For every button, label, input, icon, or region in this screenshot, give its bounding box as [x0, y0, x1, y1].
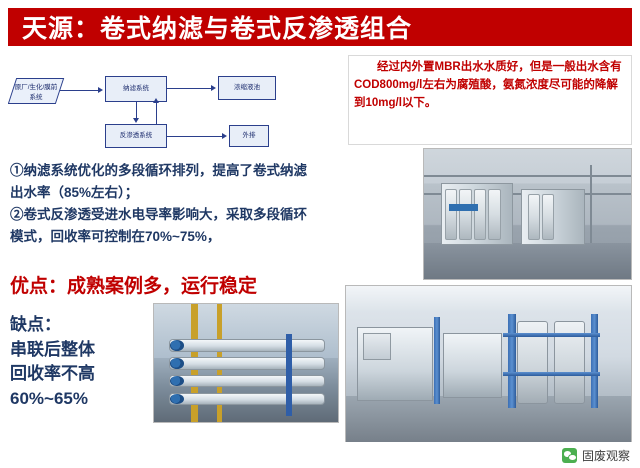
slide: 天源：卷式纳滤与卷式反渗透组合 原厂/生化/膜前系统 纳滤系统 反渗透系统 浓缩…	[0, 0, 640, 468]
photo-membrane-skid-top-right	[423, 148, 632, 280]
photo2-blue-pipe	[286, 334, 292, 417]
photo2-vessel-4-cap	[170, 394, 184, 405]
photo1-label-plate	[449, 204, 478, 212]
diagram-node-discharge: 外排	[229, 125, 269, 147]
diagram-node-discharge-label: 外排	[243, 132, 256, 140]
wechat-badge: 固废观察	[562, 447, 630, 464]
diagram-arrow-1	[98, 87, 103, 93]
photo-pressure-vessels-content	[154, 304, 338, 422]
advantage-text: 优点：成熟案例多，运行稳定	[10, 271, 257, 298]
diagram-arrow-recycle	[153, 98, 159, 103]
photo-membrane-skid-content	[424, 149, 631, 279]
body-text-block: ①纳滤系统优化的多段循环排列，提高了卷式纳滤 出水率（85%左右）； ②卷式反渗…	[10, 160, 340, 247]
diagram-arrow-3	[211, 85, 216, 91]
diagram-arrow-4	[222, 133, 227, 139]
photo3-pipe-h1	[503, 333, 600, 337]
slide-title-bar: 天源：卷式纳滤与卷式反渗透组合	[8, 8, 632, 46]
disadvantage-line-2: 串联后整体	[10, 338, 95, 363]
photo2-vessel-1-cap	[170, 340, 184, 351]
photo3-pipe-v2	[591, 314, 598, 408]
photo3-ceiling	[346, 286, 631, 311]
photo1-vessel-6	[542, 194, 554, 240]
photo2-vessel-4	[169, 393, 326, 406]
photo1-floor	[424, 243, 631, 279]
footer: 固废观察	[0, 442, 640, 468]
page-title: 天源：卷式纳滤与卷式反渗透组合	[22, 9, 412, 45]
photo3-rack-mid	[443, 333, 502, 398]
photo2-vessel-1	[169, 339, 326, 352]
photo2-vessel-2	[169, 357, 326, 370]
body-line-4: 模式，回收率可控制在70%~75%，	[10, 226, 340, 248]
photo1-column	[590, 165, 592, 243]
note-text: 经过内外置MBR出水水质好，但是一般出水含有COD800mg/l左右为腐殖酸，氨…	[354, 59, 626, 112]
disadvantage-line-4: 60%~65%	[10, 387, 95, 412]
photo3-pipe-v1	[508, 314, 515, 408]
photo1-vessel-2	[459, 189, 471, 240]
diagram-node-concentrate: 浓缩液池	[218, 76, 276, 100]
photo3-pipe-h2	[503, 372, 600, 376]
wechat-account-name: 固废观察	[582, 447, 630, 464]
body-line-1: ①纳滤系统优化的多段循环排列，提高了卷式纳滤	[10, 160, 340, 182]
disadvantage-line-1: 缺点：	[10, 313, 95, 338]
diagram-arrow-2	[133, 118, 139, 123]
photo3-pipe-v3	[434, 317, 440, 403]
diagram-connector-3	[167, 88, 212, 89]
photo2-vessel-2-cap	[170, 358, 184, 369]
photo3-floor	[346, 396, 631, 443]
diagram-node-inlet-label: 原厂/生化/膜前系统	[13, 81, 59, 101]
diagram-connector-4	[167, 136, 223, 137]
photo1-vessel-1	[445, 189, 457, 240]
diagram-node-concentrate-label: 浓缩液池	[234, 84, 260, 92]
right-margin	[632, 0, 640, 468]
photo1-rail-1	[424, 175, 631, 177]
wechat-icon	[562, 448, 577, 463]
photo1-vessel-5	[528, 194, 540, 240]
photo-pressure-vessels-bottom-middle	[153, 303, 339, 423]
disadvantage-line-3: 回收率不高	[10, 362, 95, 387]
process-flow-diagram: 原厂/生化/膜前系统 纳滤系统 反渗透系统 浓缩液池 外排	[10, 54, 340, 149]
diagram-node-inlet: 原厂/生化/膜前系统	[8, 78, 64, 104]
photo-ro-plant-bottom-right	[345, 285, 632, 444]
photo1-vessel-4	[488, 189, 500, 240]
photo-ro-plant-content	[346, 286, 631, 443]
photo2-vessel-3	[169, 375, 326, 388]
note-box: 经过内外置MBR出水水质好，但是一般出水含有COD800mg/l左右为腐殖酸，氨…	[348, 55, 632, 145]
left-margin	[0, 0, 8, 468]
diagram-node-ro: 反渗透系统	[105, 124, 167, 148]
disadvantage-block: 缺点： 串联后整体 回收率不高 60%~65%	[10, 313, 95, 412]
diagram-connector-recycle	[156, 102, 157, 124]
diagram-connector-1	[60, 90, 98, 91]
diagram-node-nf-label: 纳滤系统	[123, 85, 149, 93]
diagram-node-ro-label: 反渗透系统	[120, 132, 153, 140]
body-line-2: 出水率（85%左右）；	[10, 182, 340, 204]
photo2-vessel-3-cap	[170, 376, 184, 387]
photo1-vessel-3	[474, 189, 486, 240]
photo3-control-panel	[363, 333, 391, 360]
body-line-3: ②卷式反渗透受进水电导率影响大，采取多段循环	[10, 204, 340, 226]
diagram-connector-2	[136, 102, 137, 119]
